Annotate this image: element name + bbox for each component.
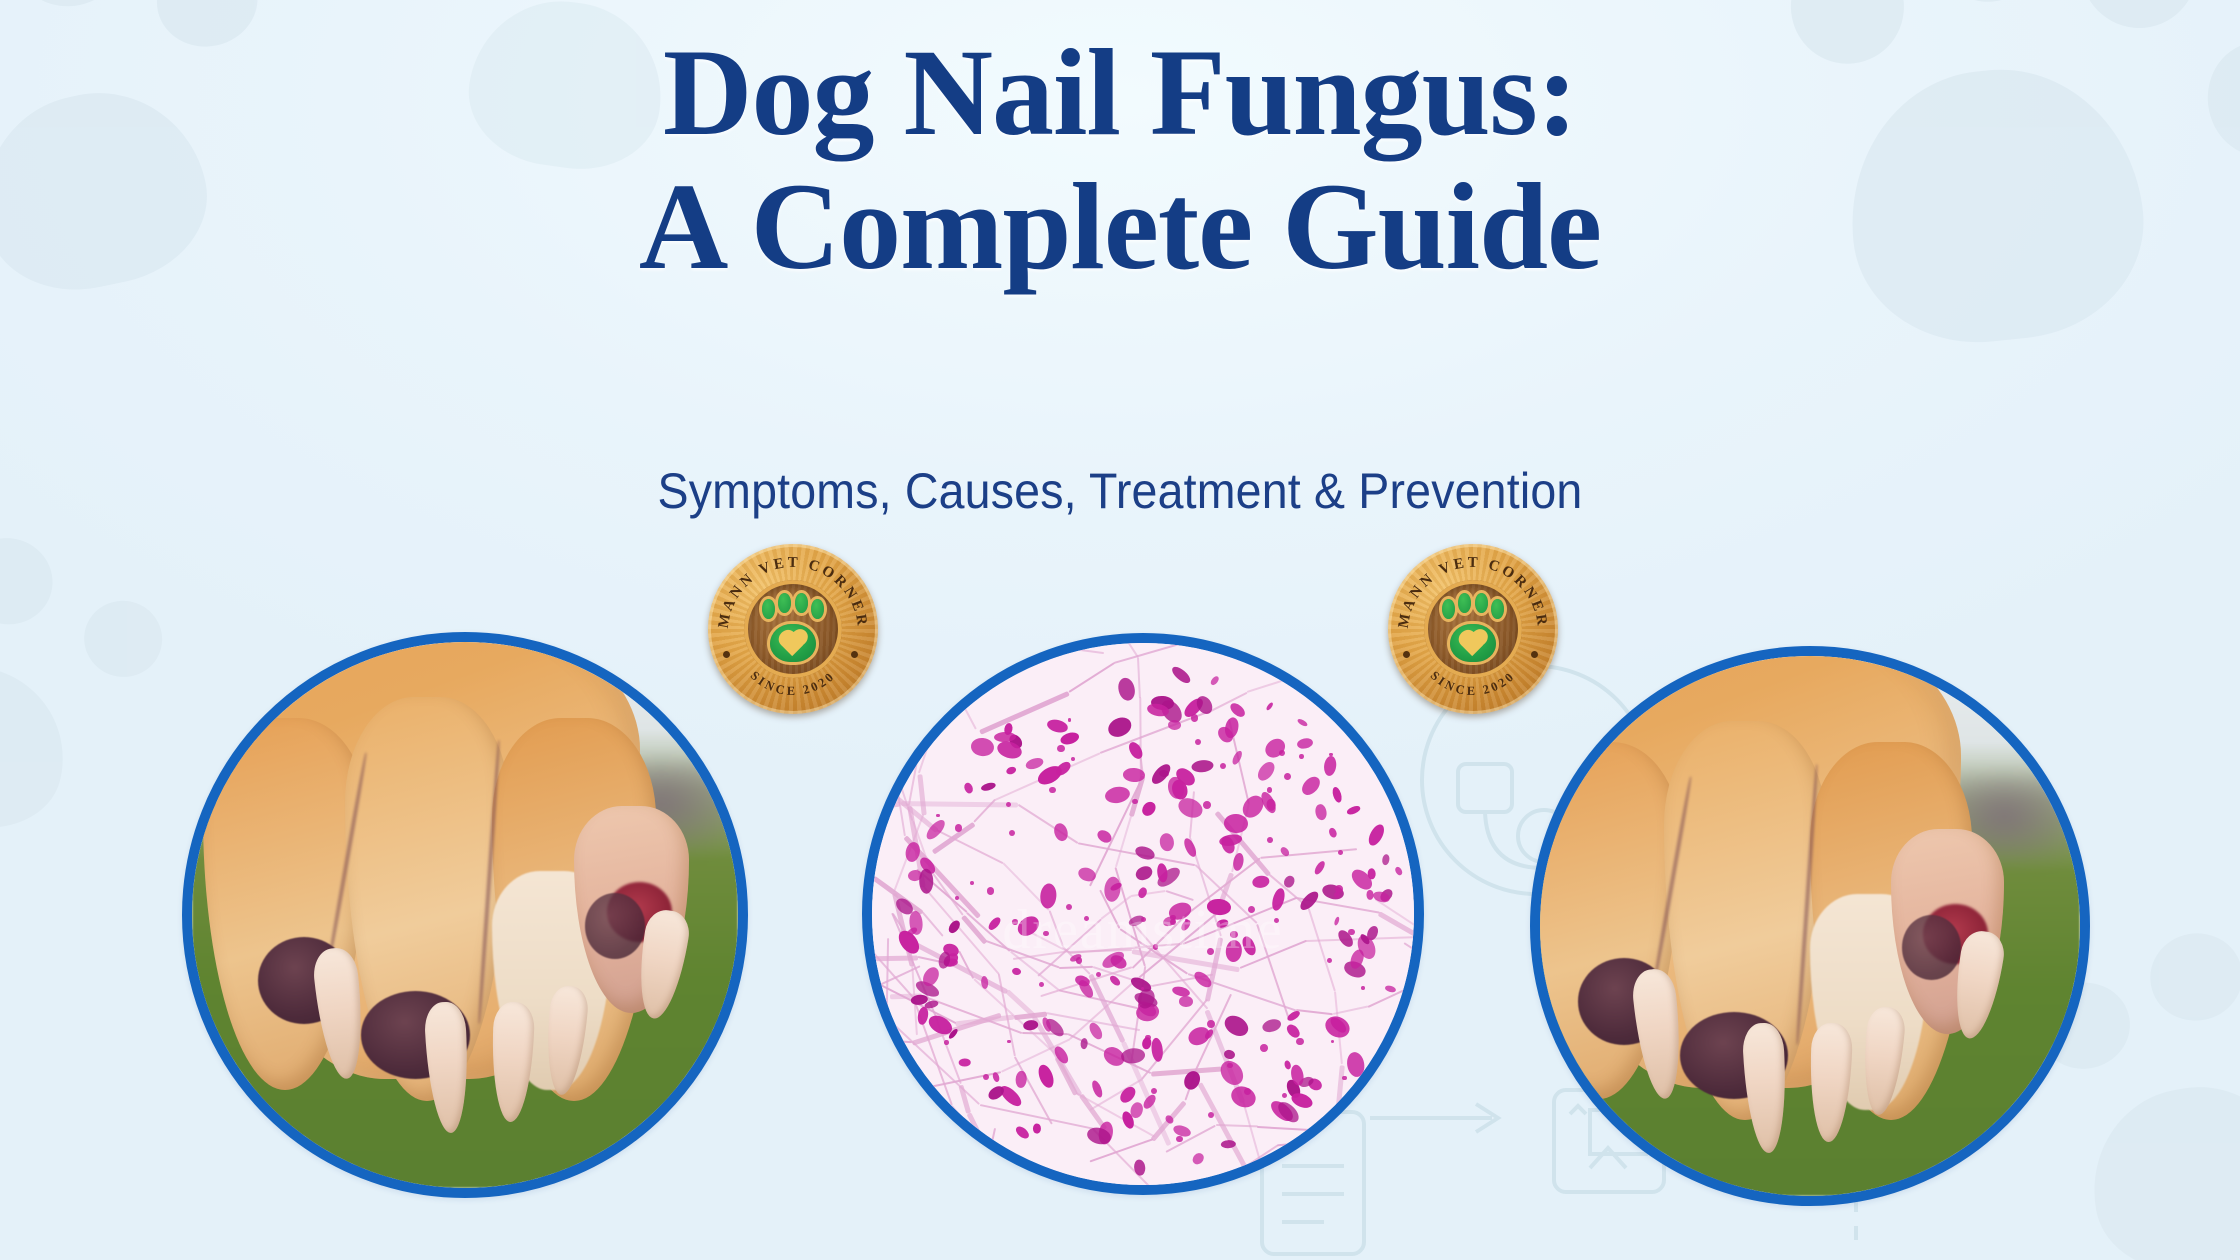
fungal-spore (1345, 1051, 1366, 1079)
fungal-spore-small (1267, 837, 1273, 843)
fungal-spore (1012, 967, 1023, 976)
hypha-strand (884, 1057, 904, 1089)
poster-heading: Dog Nail Fungus: A Complete Guide (0, 26, 2240, 294)
fungal-spore (1014, 1124, 1031, 1140)
hypha-strand (862, 829, 874, 878)
fungal-spore (1313, 859, 1327, 876)
hypha-strand (900, 802, 1017, 808)
fungal-spore-small (944, 1040, 948, 1044)
hypha-strand (864, 1163, 891, 1176)
fungal-spore (1333, 916, 1340, 926)
fungal-spore (1251, 875, 1270, 889)
fungal-spore (1262, 736, 1289, 762)
hypha-strand (1403, 942, 1424, 966)
badge-text: MANN VET CORNER SINCE 2020 (708, 544, 878, 714)
fungal-spore (1080, 1038, 1088, 1049)
fungal-spore-small (1009, 830, 1015, 836)
fungal-spore (1366, 890, 1374, 900)
fungal-spore-small (1296, 1038, 1303, 1045)
hypha-strand (895, 746, 907, 787)
fungal-spore (1259, 789, 1279, 815)
fungal-spore (1053, 822, 1070, 843)
hypha-strand (933, 633, 1024, 639)
hypha-strand (862, 802, 901, 815)
badge-bottom-text: SINCE 2020 (748, 668, 838, 698)
fungal-spore (1015, 1070, 1027, 1088)
fungal-spore (1116, 677, 1137, 703)
hypha-strand (1374, 898, 1424, 938)
fungal-spore (1381, 853, 1390, 865)
badge-top-text: MANN VET CORNER (1396, 555, 1550, 630)
fungal-spore-small (1279, 750, 1285, 756)
fungal-spore-small (1331, 1040, 1334, 1043)
fungal-spore-small (1260, 1044, 1268, 1052)
fungal-spore-small (1348, 929, 1355, 936)
fungal-spore (1159, 832, 1175, 851)
fungal-spore-small (1007, 1040, 1011, 1044)
hypha-strand (926, 1071, 1001, 1089)
hypha-strand (1137, 657, 1141, 698)
fungal-spore-small (1327, 958, 1332, 963)
hypha-strand (1017, 804, 1078, 845)
fungal-spore (1120, 1047, 1146, 1065)
fungal-spore (1104, 785, 1131, 805)
hypha-strand (989, 1190, 1019, 1195)
fungal-spore-small (1244, 1088, 1251, 1095)
hypha-strand (997, 1158, 1057, 1194)
hypha-strand (1115, 815, 1133, 868)
fungal-spore (1076, 865, 1098, 884)
hypha-strand (862, 904, 864, 977)
badge-top-text: MANN VET CORNER (716, 555, 870, 630)
fungal-spore (1190, 1151, 1206, 1167)
fungal-spore-small (1284, 773, 1291, 780)
fungal-spore-small (1006, 802, 1011, 807)
hypha-strand (1333, 633, 1370, 665)
hypha-strand (862, 718, 877, 780)
fungal-spore (1150, 1038, 1164, 1063)
hypha-strand (1336, 1065, 1345, 1108)
image-watermark: dreamstime (1002, 898, 1283, 962)
fungal-spore-small (1267, 787, 1273, 793)
fungal-spore (1260, 1018, 1282, 1035)
fungal-spore (1223, 813, 1248, 833)
hypha-strand (1308, 908, 1337, 992)
fungal-spore (1331, 786, 1343, 804)
fungal-spore (1255, 759, 1278, 783)
fungal-spore-small (1057, 745, 1065, 753)
hypha-strand (959, 1084, 971, 1113)
fungal-spore (1265, 702, 1274, 712)
fungal-spore-small (1195, 739, 1201, 745)
fungal-spore (1393, 866, 1403, 877)
fungal-spore (1222, 1012, 1253, 1040)
fungal-spore (1168, 719, 1182, 730)
fungal-spore-small (1227, 1063, 1232, 1068)
poster-subtitle: Symptoms, Causes, Treatment & Prevention (78, 462, 2161, 520)
badge-text: MANN VET CORNER SINCE 2020 (1388, 544, 1558, 714)
fungal-spore (1134, 1159, 1146, 1176)
fungal-spore-small (1342, 1076, 1346, 1080)
fungal-spore (970, 736, 995, 756)
fungal-spore (1296, 736, 1314, 749)
hypha-strand (1115, 633, 1139, 658)
fungal-spore-small (1338, 850, 1343, 855)
fungal-spore (1127, 740, 1145, 761)
fungal-spore-small (970, 881, 974, 885)
fungal-spore (1046, 718, 1069, 734)
fungal-spore (959, 1059, 971, 1067)
fungal-spore (1134, 844, 1157, 862)
hypha-strand (1374, 1103, 1410, 1168)
fungal-spore (1286, 1009, 1301, 1022)
fungal-spore-small (987, 887, 994, 894)
fungal-spore-small (1145, 1035, 1151, 1041)
hypha-strand (1068, 662, 1114, 693)
hypha-strand (1257, 1126, 1331, 1132)
dog-paw-left-image (182, 632, 748, 1198)
fungal-spore (1366, 822, 1387, 848)
fungal-spore (1025, 757, 1045, 771)
mann-vet-corner-badge-left: MANN VET CORNER SINCE 2020 (708, 544, 878, 714)
fungal-spore-small (1039, 982, 1044, 987)
fungal-spore (1217, 1056, 1248, 1089)
fungal-spore (987, 916, 1003, 932)
fungal-spore (981, 975, 989, 989)
fungal-spore (1169, 664, 1193, 686)
fungal-spore-small (1071, 757, 1075, 761)
fungal-spore (919, 868, 933, 893)
fungal-spore-small (1220, 763, 1226, 769)
hypha-strand (862, 1174, 866, 1195)
hypha-strand (901, 1085, 958, 1126)
fungus-microscopy-image: dreamstime (862, 633, 1424, 1195)
fungal-spore (1005, 765, 1017, 775)
title-line-1: Dog Nail Fungus: (0, 26, 2240, 160)
hypha-strand (1368, 958, 1424, 1008)
fungal-spore (1090, 1079, 1105, 1099)
fungal-spore (1296, 718, 1308, 728)
fungal-spore (1209, 675, 1220, 686)
fungal-spore (1035, 1063, 1056, 1090)
hypha-strand (1421, 890, 1424, 937)
fungal-spore (946, 918, 962, 935)
fungal-spore-small (1049, 787, 1055, 793)
fungal-spore (906, 926, 918, 937)
poster-canvas: Dog Nail Fungus: A Complete Guide Sympto… (0, 0, 2240, 1260)
fungal-spore-small (1203, 801, 1211, 809)
hypha-strand (1397, 1168, 1411, 1195)
fungal-spore (1323, 755, 1338, 777)
fungal-spore (1190, 759, 1214, 774)
fungal-spore (1315, 804, 1328, 822)
fungal-spore (1285, 1022, 1302, 1039)
fungal-spore (1328, 826, 1338, 838)
fungal-spore-small (955, 824, 962, 831)
fungal-spore (1134, 864, 1154, 883)
fungal-spore (1322, 1012, 1353, 1041)
fungal-spore (1105, 713, 1134, 740)
fungal-spore (1299, 774, 1323, 798)
hypha-strand (1059, 966, 1093, 969)
hypha-strand (1211, 1144, 1278, 1189)
hypha-strand (1333, 1006, 1368, 1016)
fungal-spore (1033, 1123, 1041, 1133)
fungal-spore-small (1282, 1093, 1287, 1098)
fungal-spore (1022, 1019, 1038, 1031)
fungal-spore (1139, 800, 1158, 820)
title-line-2: A Complete Guide (0, 160, 2240, 294)
hypha-strand (1278, 1141, 1313, 1146)
fungal-spore (1231, 750, 1244, 766)
hypha-strand (967, 1112, 989, 1150)
fungal-spore-small (1207, 1020, 1215, 1028)
hypha-strand (1055, 645, 1105, 654)
hypha-strand (921, 911, 943, 937)
hypha-strand (1023, 637, 1056, 647)
hypha-strand (1246, 664, 1334, 694)
hypha-strand (937, 829, 1004, 864)
fungal-spore-small (1096, 972, 1101, 977)
fungal-spore-small (1361, 986, 1365, 990)
hypha-strand (1296, 1009, 1333, 1015)
fungal-spore-small (1299, 754, 1304, 759)
fungal-spore-small (1176, 1136, 1182, 1142)
fungal-spore-small (983, 1074, 989, 1080)
fungal-spore (1179, 995, 1193, 1006)
fungal-spore (1052, 1044, 1070, 1065)
fungal-spore-small (1151, 1088, 1157, 1094)
badge-bottom-text: SINCE 2020 (1428, 668, 1518, 698)
dog-paw-right-image (1530, 646, 2090, 1206)
fungal-spore-small (1132, 799, 1137, 804)
fungal-spore (963, 781, 975, 794)
hypha-strand (1131, 890, 1166, 897)
hypha-strand (1158, 1188, 1212, 1195)
fungal-spore-small (1068, 718, 1071, 721)
fungal-spore (980, 781, 996, 792)
hypha-strand (923, 633, 947, 726)
hypha-strand (862, 1111, 878, 1157)
mann-vet-corner-badge-right: MANN VET CORNER SINCE 2020 (1388, 544, 1558, 714)
fungal-spore (1346, 804, 1361, 815)
fungal-spore-small (936, 814, 940, 818)
hypha-strand (917, 774, 926, 816)
fungal-spore (1186, 1024, 1213, 1049)
fungal-spore-small (1208, 1112, 1214, 1118)
fungal-spore (1228, 1083, 1259, 1111)
fungal-spore-small (1191, 714, 1199, 722)
